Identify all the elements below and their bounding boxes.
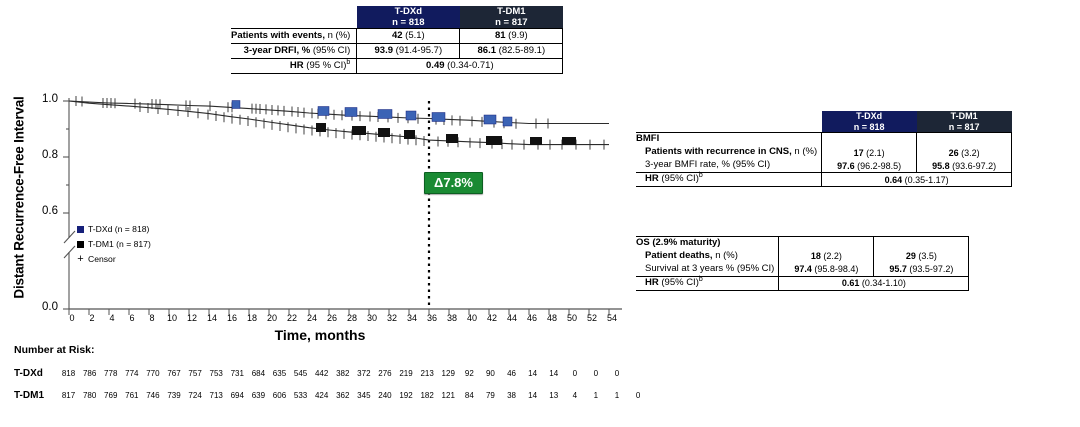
- legend-square-icon-tdm1: [77, 241, 84, 248]
- number-at-risk-row-tdm1: T-DM1 8177807697617467397247136946396065…: [14, 384, 649, 406]
- footnote-marker: b: [699, 276, 703, 283]
- column-header-tdm1-n: n = 817: [917, 122, 1012, 133]
- table-row: 3-year BMFI rate, % (95% CI) 97.6 (96.2-…: [636, 159, 1012, 173]
- cell-empty-tdxd: [822, 133, 917, 147]
- row-label-bold: HR: [645, 277, 659, 288]
- cell-value-bold: 93.9: [375, 45, 394, 56]
- chart-svg: [0, 80, 630, 330]
- delta-badge: Δ7.8%: [424, 172, 483, 194]
- x-tick-50: 50: [562, 313, 582, 323]
- cell-value-plain: (3.5): [916, 251, 937, 261]
- os-table: OS (2.9% maturity) Patient deaths, n (%)…: [636, 236, 969, 291]
- number-at-risk-row-tdxd: T-DXd 8187867787747707677577537316846355…: [14, 362, 649, 384]
- number-at-risk-value: 761: [121, 391, 142, 400]
- x-tick-6: 6: [122, 313, 142, 323]
- cell-value-bold: 26: [949, 148, 959, 158]
- column-header-tdm1: T-DM1 n = 817: [917, 111, 1012, 133]
- x-tick-8: 8: [142, 313, 162, 323]
- row-label-plain: (95% CI): [310, 45, 350, 56]
- number-at-risk-value: 14: [522, 391, 543, 400]
- number-at-risk-table: T-DXd 8187867787747707677577537316846355…: [14, 362, 649, 406]
- number-at-risk-value: 46: [501, 369, 522, 378]
- number-at-risk-value: 121: [438, 391, 459, 400]
- column-header-tdxd-n: n = 818: [822, 122, 917, 133]
- number-at-risk-value: 606: [269, 391, 290, 400]
- number-at-risk-value: 639: [248, 391, 269, 400]
- number-at-risk-value: 38: [501, 391, 522, 400]
- number-at-risk-value: 767: [163, 369, 184, 378]
- row-label-survival-3-years: Survival at 3 years % (95% CI): [636, 263, 779, 277]
- cell-value-bold: 17: [854, 148, 864, 158]
- cell-value-bold: 0.49: [426, 60, 445, 71]
- chart-legend: T-DXd (n = 818) T-DM1 (n = 817) + Censor: [77, 222, 151, 267]
- cell-value-plain: (5.1): [403, 30, 425, 41]
- row-label-bold: Patients with events,: [231, 30, 325, 41]
- cell-value-plain: (2.1): [864, 148, 885, 158]
- section-title-bmfi: BMFI: [636, 133, 822, 147]
- y-axis-ticks: [63, 101, 69, 309]
- x-tick-32: 32: [382, 313, 402, 323]
- row-label-patient-deaths: Patient deaths, n (%): [636, 250, 779, 263]
- number-at-risk-value: 1: [585, 391, 606, 400]
- cell-value-bold: 95.7: [889, 264, 907, 274]
- number-at-risk-value: 0: [606, 369, 627, 378]
- row-label-plain: (95 % CI): [304, 60, 347, 71]
- curve-tdxd: [69, 101, 609, 124]
- cell-empty-tdm1: [917, 133, 1012, 147]
- number-at-risk-value: 713: [206, 391, 227, 400]
- cell-value-bold: 81: [495, 30, 506, 41]
- number-at-risk-value: 219: [396, 369, 417, 378]
- cell-value-plain: (96.2-98.5): [855, 161, 902, 171]
- cell-value-bold: 86.1: [478, 45, 497, 56]
- x-tick-30: 30: [362, 313, 382, 323]
- row-label-bold: HR: [645, 173, 659, 184]
- x-tick-40: 40: [462, 313, 482, 323]
- cell-value-plain: (9.9): [506, 30, 528, 41]
- x-tick-2: 2: [82, 313, 102, 323]
- kaplan-meier-chart: [0, 80, 630, 330]
- x-tick-12: 12: [182, 313, 202, 323]
- number-at-risk-value: 817: [58, 391, 79, 400]
- x-tick-24: 24: [302, 313, 322, 323]
- cell-tdxd-cns-recurrence: 17 (2.1): [822, 146, 917, 159]
- table-row: Patient deaths, n (%) 18 (2.2) 29 (3.5): [636, 250, 969, 263]
- cell-hr-value: 0.64 (0.35-1.17): [822, 173, 1012, 187]
- number-at-risk-value: 382: [332, 369, 353, 378]
- cell-tdm1-survival-3-years: 95.7 (93.5-97.2): [874, 263, 969, 277]
- x-tick-38: 38: [442, 313, 462, 323]
- cell-value-plain: (91.4-95.7): [393, 45, 442, 56]
- x-tick-34: 34: [402, 313, 422, 323]
- column-header-tdm1-name: T-DM1: [917, 111, 1012, 122]
- censor-marks-tdxd: [76, 96, 548, 129]
- cell-value-bold: 97.4: [794, 264, 812, 274]
- legend-label-censor: Censor: [88, 253, 116, 266]
- cell-tdm1-3-year-bmfi-rate: 95.8 (93.6-97.2): [917, 159, 1012, 173]
- row-label-bold: Patient deaths,: [645, 250, 713, 261]
- cell-empty-tdxd: [779, 237, 874, 251]
- number-at-risk-value: 769: [100, 391, 121, 400]
- cell-tdxd-survival-3-years: 97.4 (95.8-98.4): [779, 263, 874, 277]
- cell-tdm1-3-year-drfi: 86.1 (82.5-89.1): [460, 44, 563, 59]
- x-tick-28: 28: [342, 313, 362, 323]
- cell-value-plain: (95.8-98.4): [812, 264, 859, 274]
- cell-value-bold: 97.6: [837, 161, 855, 171]
- number-at-risk-value: 4: [564, 391, 585, 400]
- number-at-risk-value: 345: [353, 391, 374, 400]
- legend-item-tdxd: T-DXd (n = 818): [77, 222, 151, 237]
- cell-value-plain: (0.35-1.17): [902, 175, 949, 185]
- number-at-risk-value: 774: [121, 369, 142, 378]
- y-axis: [64, 98, 75, 309]
- drfi-summary-table: T-DXd n = 818 T-DM1 n = 817 Patients wit…: [231, 6, 563, 74]
- legend-label-tdxd: T-DXd (n = 818): [88, 223, 149, 236]
- x-axis-tick-labels: 0246810121416182022242628303234363840424…: [62, 313, 622, 323]
- cell-value-bold: 95.8: [932, 161, 950, 171]
- bmfi-table: T-DXd n = 818 T-DM1 n = 817 BMFI Patient…: [636, 111, 1012, 187]
- number-at-risk-value: 694: [227, 391, 248, 400]
- row-label-plain: (95% CI): [659, 173, 699, 184]
- cell-value-plain: (93.6-97.2): [950, 161, 997, 171]
- table-row: 3-year DRFI, % (95% CI) 93.9 (91.4-95.7)…: [231, 44, 563, 59]
- row-label-bold: 3-year DRFI, %: [244, 45, 311, 56]
- row-label-plain: n (%): [792, 146, 817, 157]
- x-tick-36: 36: [422, 313, 442, 323]
- cell-value-bold: 29: [906, 251, 916, 261]
- header-spacer: [636, 111, 822, 133]
- number-at-risk-values-tdxd: 8187867787747707677577537316846355454423…: [58, 369, 628, 378]
- number-at-risk-value: 240: [374, 391, 395, 400]
- column-header-tdxd-name: T-DXd: [357, 6, 460, 17]
- number-at-risk-value: 14: [522, 369, 543, 378]
- cell-tdxd-3-year-drfi: 93.9 (91.4-95.7): [357, 44, 460, 59]
- cell-tdm1-cns-recurrence: 26 (3.2): [917, 146, 1012, 159]
- x-tick-54: 54: [602, 313, 622, 323]
- x-tick-46: 46: [522, 313, 542, 323]
- x-tick-10: 10: [162, 313, 182, 323]
- header-spacer: [231, 6, 357, 29]
- section-title-os: OS (2.9% maturity): [636, 237, 779, 251]
- number-at-risk-value: 818: [58, 369, 79, 378]
- column-header-tdxd: T-DXd n = 818: [357, 6, 460, 29]
- cell-value-plain: (2.2): [821, 251, 842, 261]
- y-tick-1.0: 1.0: [28, 93, 58, 105]
- x-tick-4: 4: [102, 313, 122, 323]
- table-row-hazard-ratio: HR (95 % CI)b 0.49 (0.34-0.71): [231, 59, 563, 74]
- row-label-plain: 3-year BMFI rate, % (95% CI): [645, 159, 770, 170]
- x-tick-48: 48: [542, 313, 562, 323]
- row-label-plain: Survival at 3 years % (95% CI): [645, 263, 774, 274]
- x-tick-16: 16: [222, 313, 242, 323]
- number-at-risk-label-tdm1: T-DM1: [14, 390, 58, 401]
- cell-tdxd-3-year-bmfi-rate: 97.6 (96.2-98.5): [822, 159, 917, 173]
- cell-tdm1-patients-with-events: 81 (9.9): [460, 29, 563, 44]
- x-tick-52: 52: [582, 313, 602, 323]
- x-tick-22: 22: [282, 313, 302, 323]
- cell-value-plain: (3.2): [959, 148, 980, 158]
- x-axis-label: Time, months: [190, 327, 450, 343]
- footnote-marker: b: [699, 172, 703, 179]
- cell-value-plain: (93.5-97.2): [907, 264, 954, 274]
- cell-value-plain: (82.5-89.1): [496, 45, 545, 56]
- number-at-risk-value: 780: [79, 391, 100, 400]
- footnote-marker: b: [346, 59, 350, 66]
- legend-item-tdm1: T-DM1 (n = 817): [77, 237, 151, 252]
- row-label-hr: HR (95% CI)b: [636, 277, 779, 291]
- number-at-risk-value: 213: [417, 369, 438, 378]
- number-at-risk-value: 276: [374, 369, 395, 378]
- row-label-bold: Patients with recurrence in CNS,: [645, 146, 792, 157]
- number-at-risk-value: 424: [311, 391, 332, 400]
- number-at-risk-value: 0: [564, 369, 585, 378]
- row-label-plain: (95% CI): [659, 277, 699, 288]
- legend-label-tdm1: T-DM1 (n = 817): [88, 238, 151, 251]
- number-at-risk-value: 684: [248, 369, 269, 378]
- table-header-row: T-DXd n = 818 T-DM1 n = 817: [636, 111, 1012, 133]
- number-at-risk-value: 545: [290, 369, 311, 378]
- number-at-risk-value: 92: [459, 369, 480, 378]
- curve-tdm1: [69, 101, 609, 145]
- table-row: Patients with recurrence in CNS, n (%) 1…: [636, 146, 1012, 159]
- cell-hr-value: 0.49 (0.34-0.71): [357, 59, 563, 74]
- number-at-risk-value: 778: [100, 369, 121, 378]
- column-header-tdxd-n: n = 818: [357, 17, 460, 28]
- number-at-risk-value: 13: [543, 391, 564, 400]
- number-at-risk-value: 182: [417, 391, 438, 400]
- x-tick-42: 42: [482, 313, 502, 323]
- row-label-plain: n (%): [325, 30, 350, 41]
- number-at-risk-value: 84: [459, 391, 480, 400]
- row-label-hr: HR (95% CI)b: [636, 173, 822, 187]
- column-header-tdxd: T-DXd n = 818: [822, 111, 917, 133]
- row-label-3-year-drfi: 3-year DRFI, % (95% CI): [231, 44, 357, 59]
- x-tick-26: 26: [322, 313, 342, 323]
- column-header-tdm1-name: T-DM1: [460, 6, 563, 17]
- table-row: Patients with events, n (%) 42 (5.1) 81 …: [231, 29, 563, 44]
- table-row-section-title: OS (2.9% maturity): [636, 237, 969, 251]
- cell-tdxd-patient-deaths: 18 (2.2): [779, 250, 874, 263]
- row-label-plain: n (%): [713, 250, 738, 261]
- number-at-risk-value: 724: [185, 391, 206, 400]
- number-at-risk-values-tdm1: 8177807697617467397247136946396065334243…: [58, 391, 649, 400]
- cell-hr-value: 0.61 (0.34-1.10): [779, 277, 969, 291]
- row-label-3-year-bmfi-rate: 3-year BMFI rate, % (95% CI): [636, 159, 822, 173]
- plus-icon: +: [77, 256, 84, 263]
- number-at-risk-value: 372: [353, 369, 374, 378]
- number-at-risk-value: 533: [290, 391, 311, 400]
- number-at-risk-value: 0: [585, 369, 606, 378]
- number-at-risk-value: 0: [628, 391, 649, 400]
- column-header-tdxd-name: T-DXd: [822, 111, 917, 122]
- censor-cluster-tdm1: [316, 123, 576, 145]
- cell-value-plain: (0.34-0.71): [445, 60, 494, 71]
- number-at-risk-value: 731: [227, 369, 248, 378]
- cell-value-bold: 0.64: [885, 175, 903, 185]
- number-at-risk-value: 79: [480, 391, 501, 400]
- number-at-risk-value: 14: [543, 369, 564, 378]
- table-row-hazard-ratio: HR (95% CI)b 0.64 (0.35-1.17): [636, 173, 1012, 187]
- row-label-patients-with-events: Patients with events, n (%): [231, 29, 357, 44]
- y-tick-0.0: 0.0: [28, 301, 58, 313]
- number-at-risk-value: 786: [79, 369, 100, 378]
- x-tick-44: 44: [502, 313, 522, 323]
- column-header-tdm1: T-DM1 n = 817: [460, 6, 563, 29]
- cell-tdm1-patient-deaths: 29 (3.5): [874, 250, 969, 263]
- y-tick-0.8: 0.8: [28, 149, 58, 161]
- cell-tdxd-patients-with-events: 42 (5.1): [357, 29, 460, 44]
- table-row: Survival at 3 years % (95% CI) 97.4 (95.…: [636, 263, 969, 277]
- row-label-hr: HR (95 % CI)b: [231, 59, 357, 74]
- number-at-risk-label-tdxd: T-DXd: [14, 368, 58, 379]
- number-at-risk-value: 90: [480, 369, 501, 378]
- number-at-risk-value: 442: [311, 369, 332, 378]
- table-row-hazard-ratio: HR (95% CI)b 0.61 (0.34-1.10): [636, 277, 969, 291]
- number-at-risk-value: 770: [142, 369, 163, 378]
- row-label-bold: HR: [290, 60, 304, 71]
- column-header-tdm1-n: n = 817: [460, 17, 563, 28]
- number-at-risk-title: Number at Risk:: [14, 344, 95, 356]
- number-at-risk-value: 635: [269, 369, 290, 378]
- x-tick-0: 0: [62, 313, 82, 323]
- number-at-risk-value: 362: [332, 391, 353, 400]
- number-at-risk-value: 746: [142, 391, 163, 400]
- number-at-risk-value: 1: [606, 391, 627, 400]
- cell-empty-tdm1: [874, 237, 969, 251]
- legend-item-censor: + Censor: [77, 252, 151, 267]
- number-at-risk-value: 192: [396, 391, 417, 400]
- legend-square-icon-tdxd: [77, 226, 84, 233]
- cell-value-bold: 18: [811, 251, 821, 261]
- number-at-risk-value: 753: [206, 369, 227, 378]
- table-header-row: T-DXd n = 818 T-DM1 n = 817: [231, 6, 563, 29]
- number-at-risk-value: 129: [438, 369, 459, 378]
- cell-value-plain: (0.34-1.10): [859, 278, 906, 288]
- y-tick-0.6: 0.6: [28, 205, 58, 217]
- number-at-risk-value: 757: [185, 369, 206, 378]
- x-tick-18: 18: [242, 313, 262, 323]
- number-at-risk-value: 739: [163, 391, 184, 400]
- table-row-section-title: BMFI: [636, 133, 1012, 147]
- row-label-cns-recurrence: Patients with recurrence in CNS, n (%): [636, 146, 822, 159]
- cell-value-bold: 42: [392, 30, 403, 41]
- x-tick-14: 14: [202, 313, 222, 323]
- x-tick-20: 20: [262, 313, 282, 323]
- cell-value-bold: 0.61: [842, 278, 860, 288]
